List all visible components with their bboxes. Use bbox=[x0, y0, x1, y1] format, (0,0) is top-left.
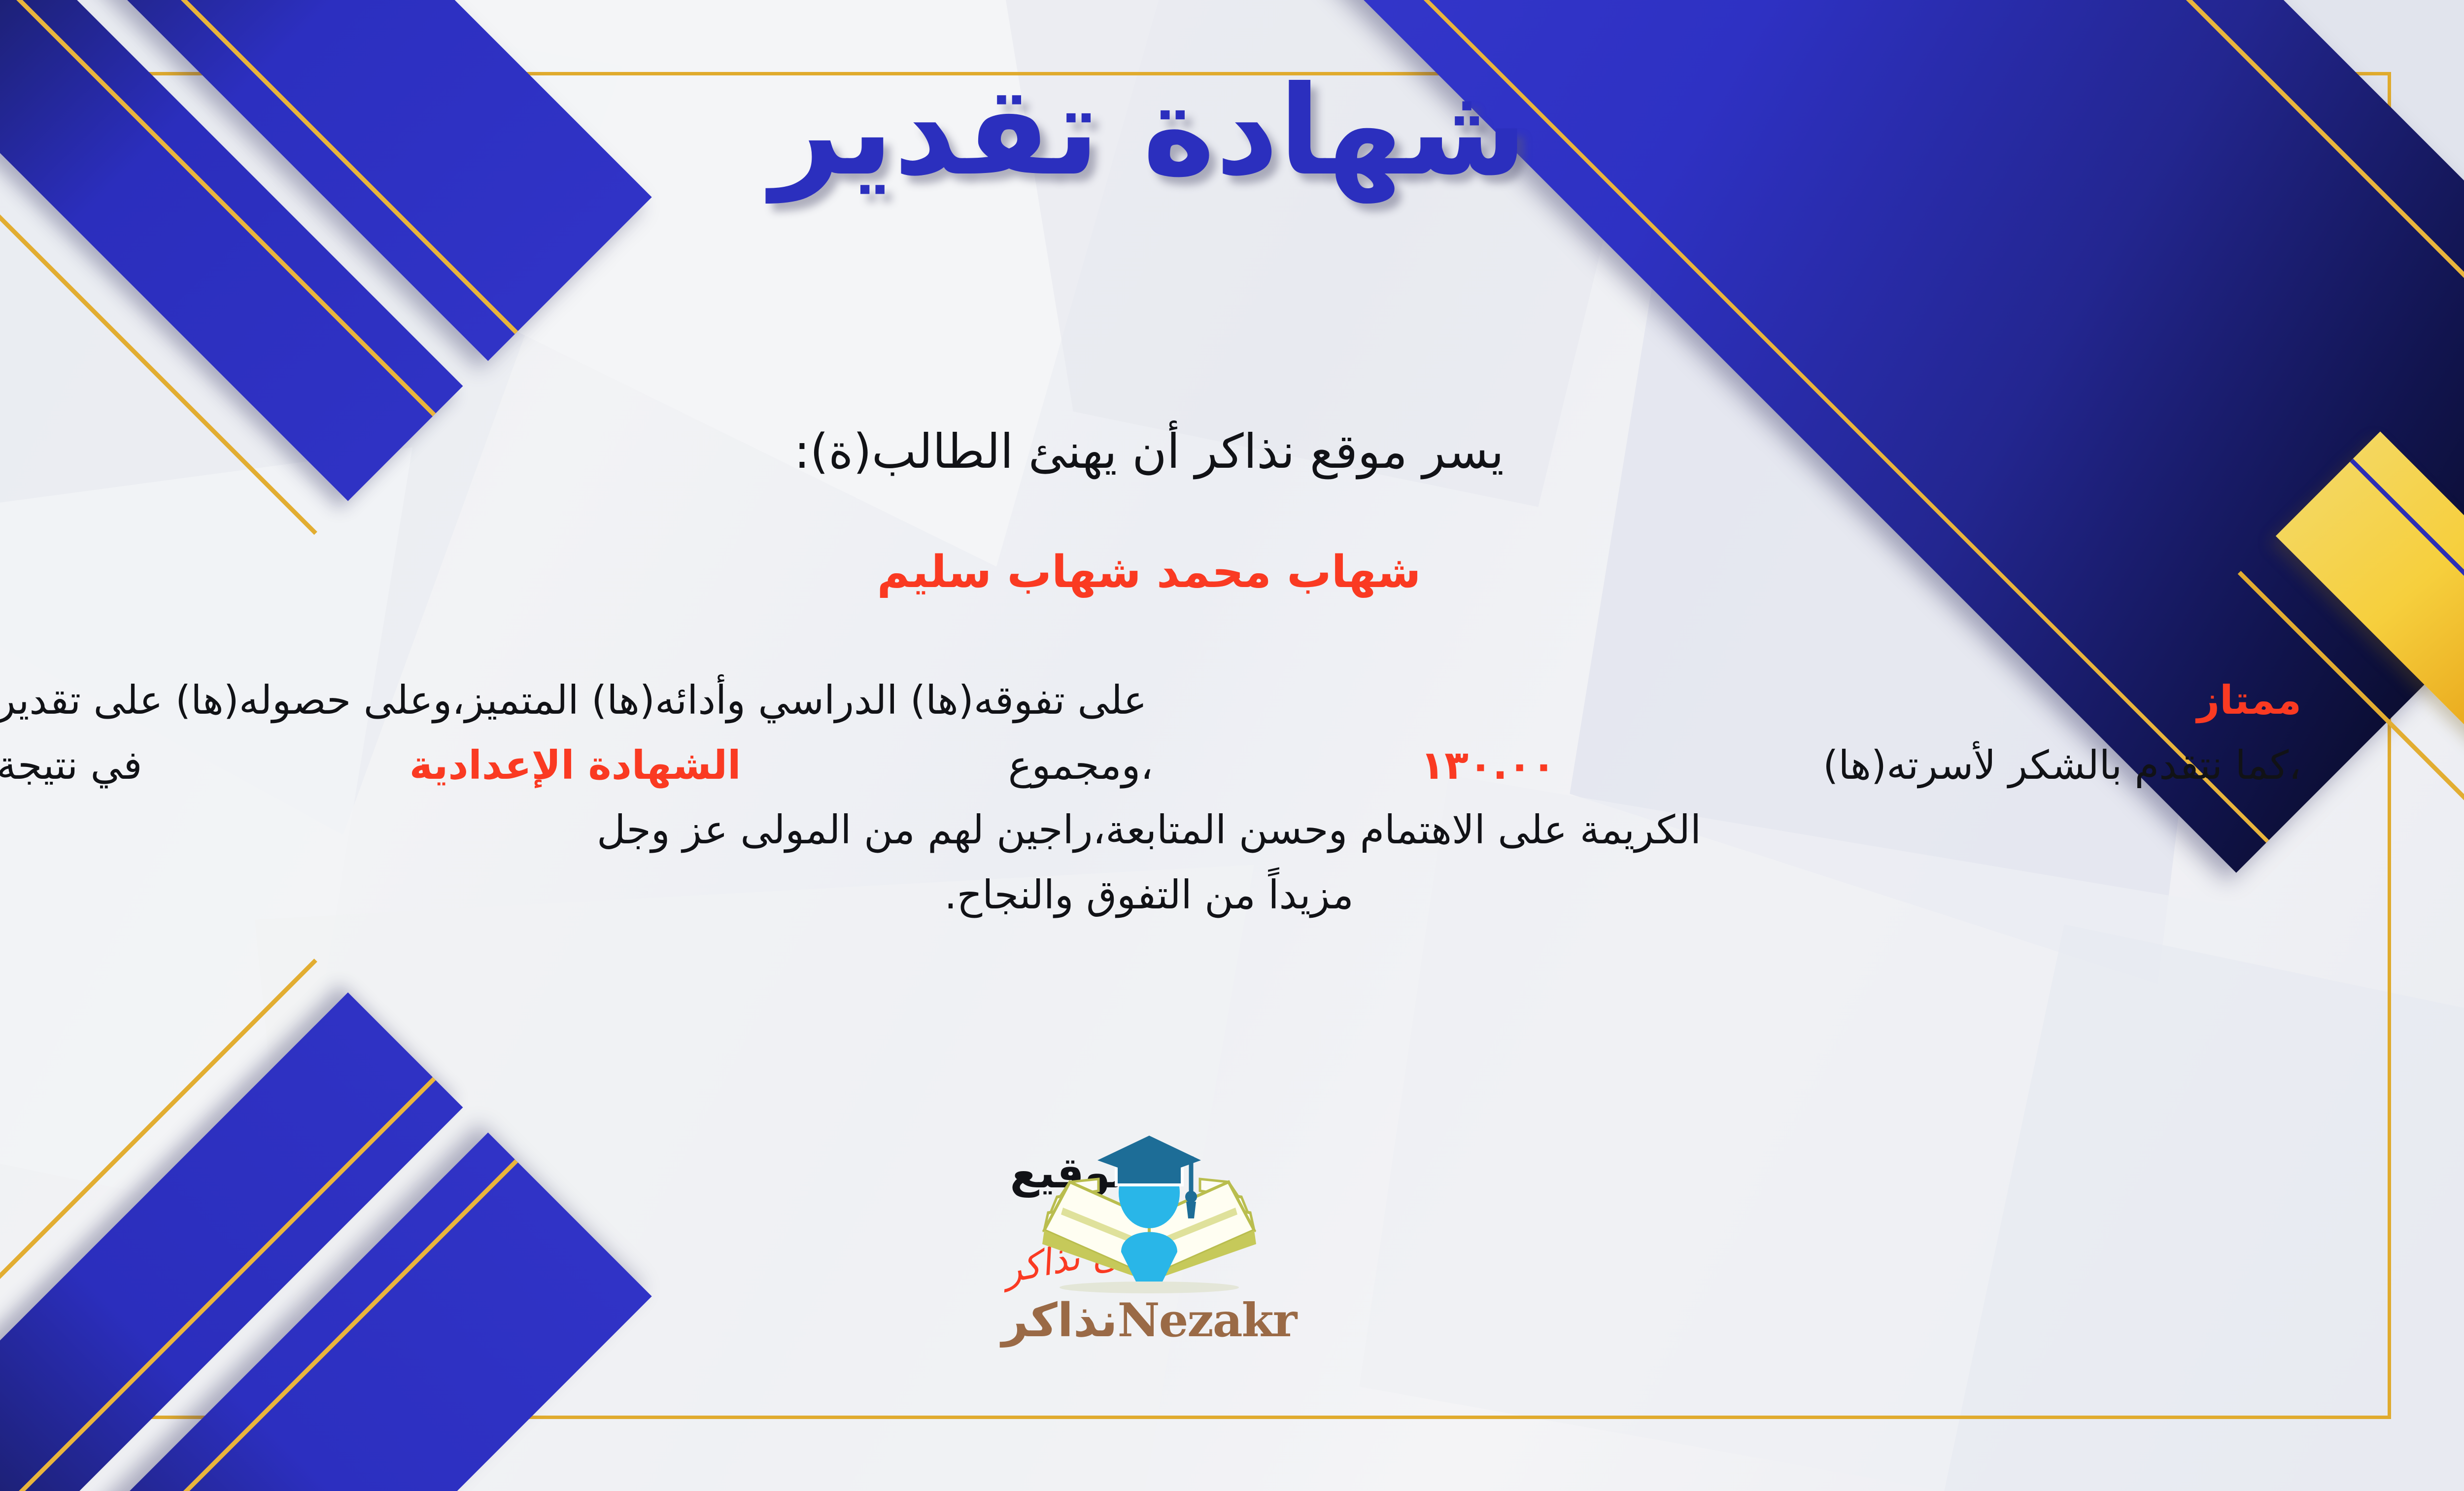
body-line-2-end: ،كما نتقدم بالشكر لأسرته(ها) bbox=[1823, 735, 2301, 796]
body-line-4: مزيداً من التفوق والنجاح. bbox=[0, 865, 2301, 925]
total-score-value: ١٣٠.٠٠ bbox=[1420, 735, 1556, 796]
grade-value: ممتاز bbox=[2197, 670, 2301, 730]
logo-arabic-text: نذاكر bbox=[1002, 1294, 1118, 1348]
greeting-line: يسر موقع نذاكر أن يهنئ الطالب(ة): bbox=[0, 424, 2464, 479]
body-line-2-start: في نتيجة bbox=[0, 735, 142, 796]
logo-wordmark: Nezakrنذاكر bbox=[937, 1293, 1361, 1348]
certificate-body: ممتاز على تفوقه(ها) الدراسي وأدائه(ها) ا… bbox=[0, 670, 2301, 930]
brand-logo: Nezakrنذاكر bbox=[937, 1134, 1361, 1348]
body-line-2: ،كما نتقدم بالشكر لأسرته(ها) ١٣٠.٠٠ ،ومج… bbox=[0, 735, 2301, 796]
certificate-content: شهادة تقدير يسر موقع نذاكر أن يهنئ الطال… bbox=[0, 0, 2464, 1491]
body-line-1-text: على تفوقه(ها) الدراسي وأدائه(ها) المتميز… bbox=[0, 670, 1147, 730]
certificate-title: شهادة تقدير bbox=[0, 54, 2464, 208]
body-line-1: ممتاز على تفوقه(ها) الدراسي وأدائه(ها) ا… bbox=[0, 670, 2301, 730]
body-line-3: الكريمة على الاهتمام وحسن المتابعة،راجين… bbox=[0, 800, 2301, 860]
certificate-canvas: شهادة تقدير يسر موقع نذاكر أن يهنئ الطال… bbox=[0, 0, 2464, 1491]
logo-latin-text: Nezakr bbox=[1118, 1293, 1297, 1348]
graduate-book-icon bbox=[1033, 1134, 1265, 1296]
body-line-2-mid: ،ومجموع bbox=[1008, 735, 1153, 796]
student-name: شهاب محمد شهاب سليم bbox=[0, 546, 2464, 598]
exam-name-value: الشهادة الإعدادية bbox=[410, 735, 741, 796]
